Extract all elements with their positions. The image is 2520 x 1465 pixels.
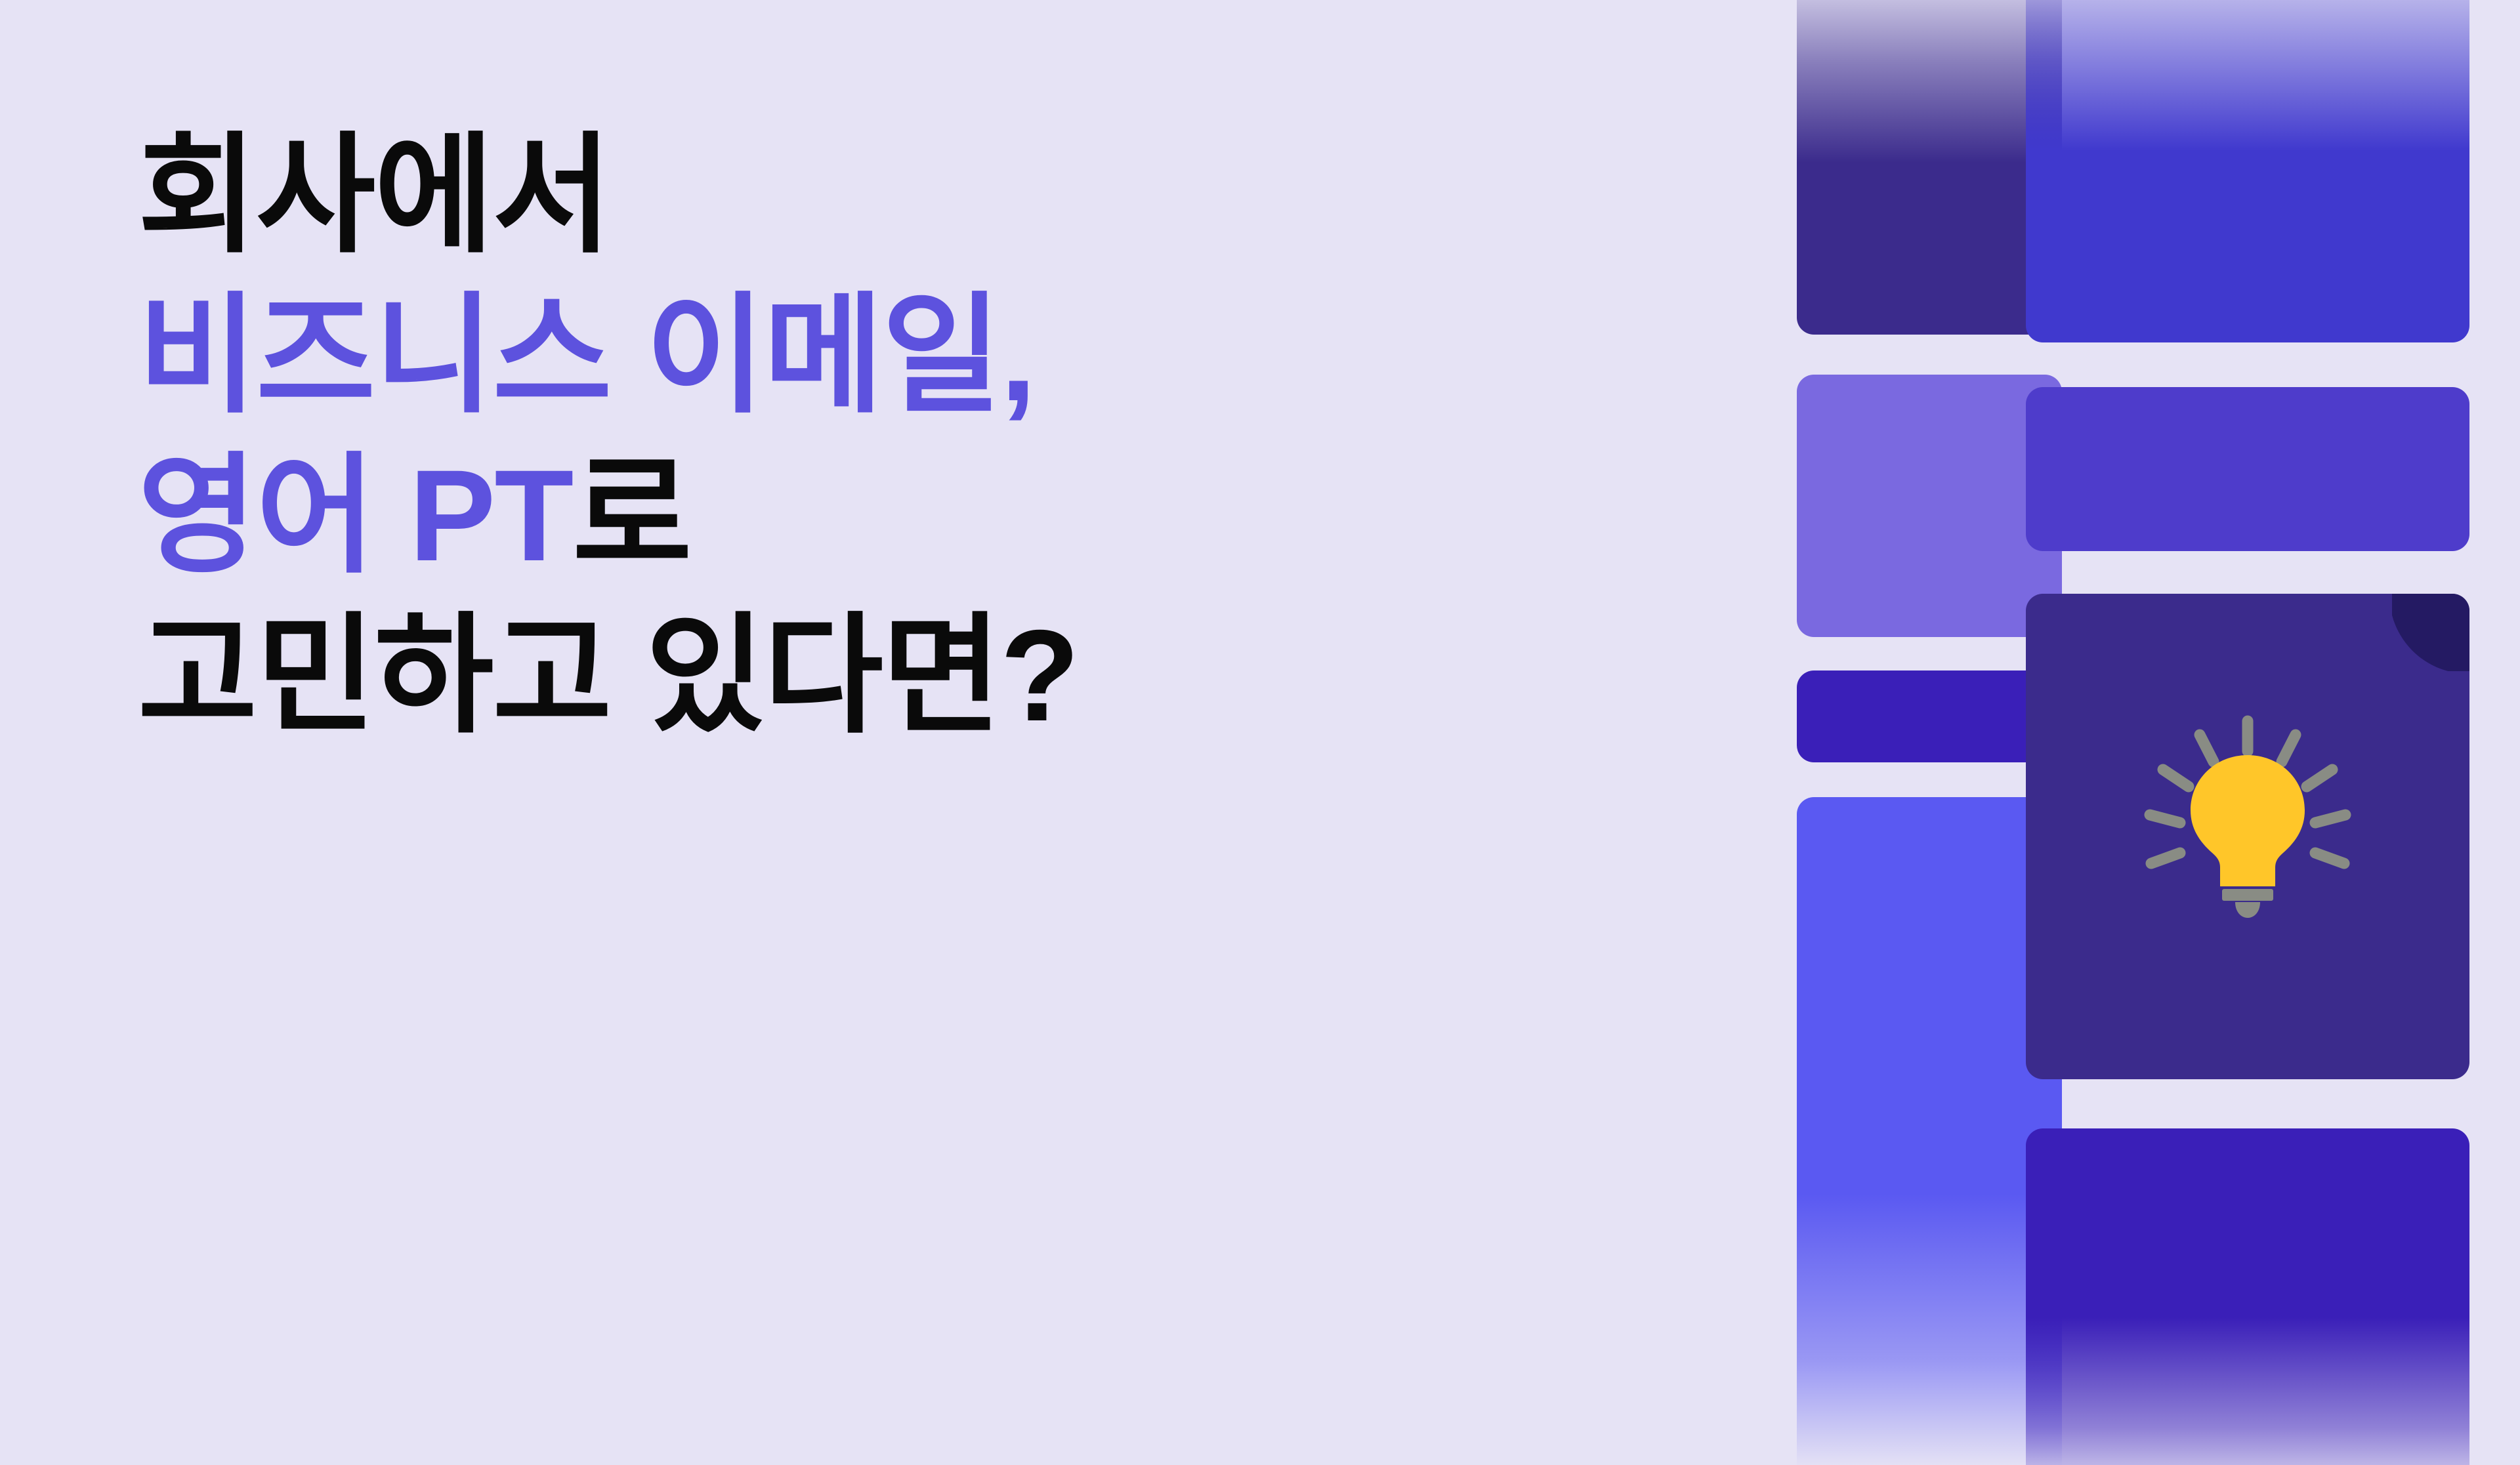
headline-line-2-text: 비즈니스 이메일,	[138, 283, 1035, 428]
headline-line-3-accent-text: 영어 PT	[138, 443, 572, 588]
headline-line-4: 고민하고 있다면?	[138, 611, 1647, 740]
headline-line-3-tail-text: 로	[572, 443, 690, 588]
collage-card-right-document	[2026, 594, 2469, 1079]
headline-line-2: 비즈니스 이메일,	[138, 291, 1647, 420]
lightbulb-base	[2235, 902, 2260, 918]
collage-card-right-top	[2026, 0, 2469, 342]
headline-line-4-text: 고민하고 있다면?	[138, 603, 1078, 748]
collage-card-left-bar	[1797, 671, 2062, 762]
collage-card-right-bar	[2026, 387, 2469, 551]
collage-card-right-bottom	[2026, 1128, 2469, 1465]
lightbulb-collar	[2222, 889, 2273, 901]
card-collage	[1797, 0, 2520, 1465]
headline-line-1: 회사에서	[138, 131, 1647, 260]
headline-block: 회사에서 비즈니스 이메일, 영어 PT로 고민하고 있다면?	[138, 131, 1647, 740]
page-fold-corner	[2392, 594, 2469, 671]
promo-banner: 회사에서 비즈니스 이메일, 영어 PT로 고민하고 있다면?	[0, 0, 2520, 1465]
headline-line-1-text: 회사에서	[138, 123, 611, 268]
collage-card-left-bottom	[1797, 797, 2062, 1465]
lightbulb-glass	[2191, 755, 2305, 886]
headline-line-3: 영어 PT로	[138, 451, 1647, 580]
collage-card-left-top	[1797, 0, 2062, 335]
lightbulb-icon	[2139, 714, 2356, 931]
collage-card-left-mid	[1797, 375, 2062, 637]
